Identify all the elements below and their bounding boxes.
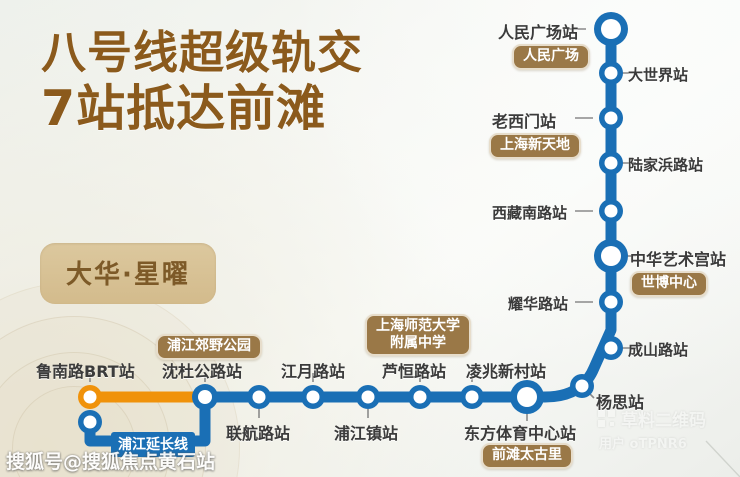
poi-badge-renmin-guangchang: 人民广场 (512, 44, 590, 70)
poi-badge-luheng-line-2: 附属中学 (376, 335, 460, 352)
poi-badge-laoximen: 上海新天地 (489, 133, 581, 159)
station-label-luheng-lu: 芦恒路站 (382, 358, 446, 382)
station-label-lingzhao-xincun: 凌兆新村站 (466, 358, 546, 382)
corner-artifact-line (706, 441, 740, 477)
poi-badge-dongfang-tiyu: 前滩太古里 (481, 443, 573, 469)
poi-badge-luheng-line-1: 上海师范大学 (376, 318, 460, 335)
station-label-xizang-nanlu: 西藏南路站 (492, 202, 567, 223)
metro-line-poster: 八号线超级轨交 7站抵达前滩 大华·星曜 (0, 0, 740, 477)
station-label-lianhang-lu: 联航路站 (226, 420, 290, 444)
watermark-qr-block: 草料二维码 用户 oTPNR6 (598, 406, 706, 452)
station-label-laoximen: 老西门站 (492, 108, 556, 132)
watermark-sohu: 搜狐号@搜狐焦点黄石站 (6, 447, 215, 474)
station-label-shendu-gonglu: 沈杜公路站 (162, 358, 242, 382)
station-label-renmin-guangchang: 人民广场站 (498, 19, 578, 43)
station-label-pujiang-zhen: 浦江镇站 (334, 420, 398, 444)
watermark-qr-title: 草料二维码 (621, 406, 706, 431)
poi-badge-zhonghua-yishugong: 世博中心 (630, 271, 708, 297)
qr-code-icon (598, 410, 615, 427)
station-label-chengshan-lu: 成山路站 (628, 339, 688, 360)
station-label-lujiabang-lu: 陆家浜路站 (628, 154, 703, 175)
watermark-qr-user: 用户 oTPNR6 (599, 433, 706, 452)
station-label-lunan-lu-brt: 鲁南路BRT站 (36, 358, 135, 382)
station-label-zhonghua-yishugong: 中华艺术宫站 (630, 246, 726, 270)
station-label-jiangyue-lu: 江月路站 (281, 358, 345, 382)
poi-badge-luheng-lu: 上海师范大学 附属中学 (365, 314, 471, 356)
station-label-dongfang-tiyu: 东方体育中心站 (464, 420, 576, 444)
station-label-dashijie: 大世界站 (628, 64, 688, 85)
station-label-yaohua-lu: 耀华路站 (508, 293, 568, 314)
poi-badge-shendu-gonglu: 浦江郊野公园 (156, 334, 262, 360)
